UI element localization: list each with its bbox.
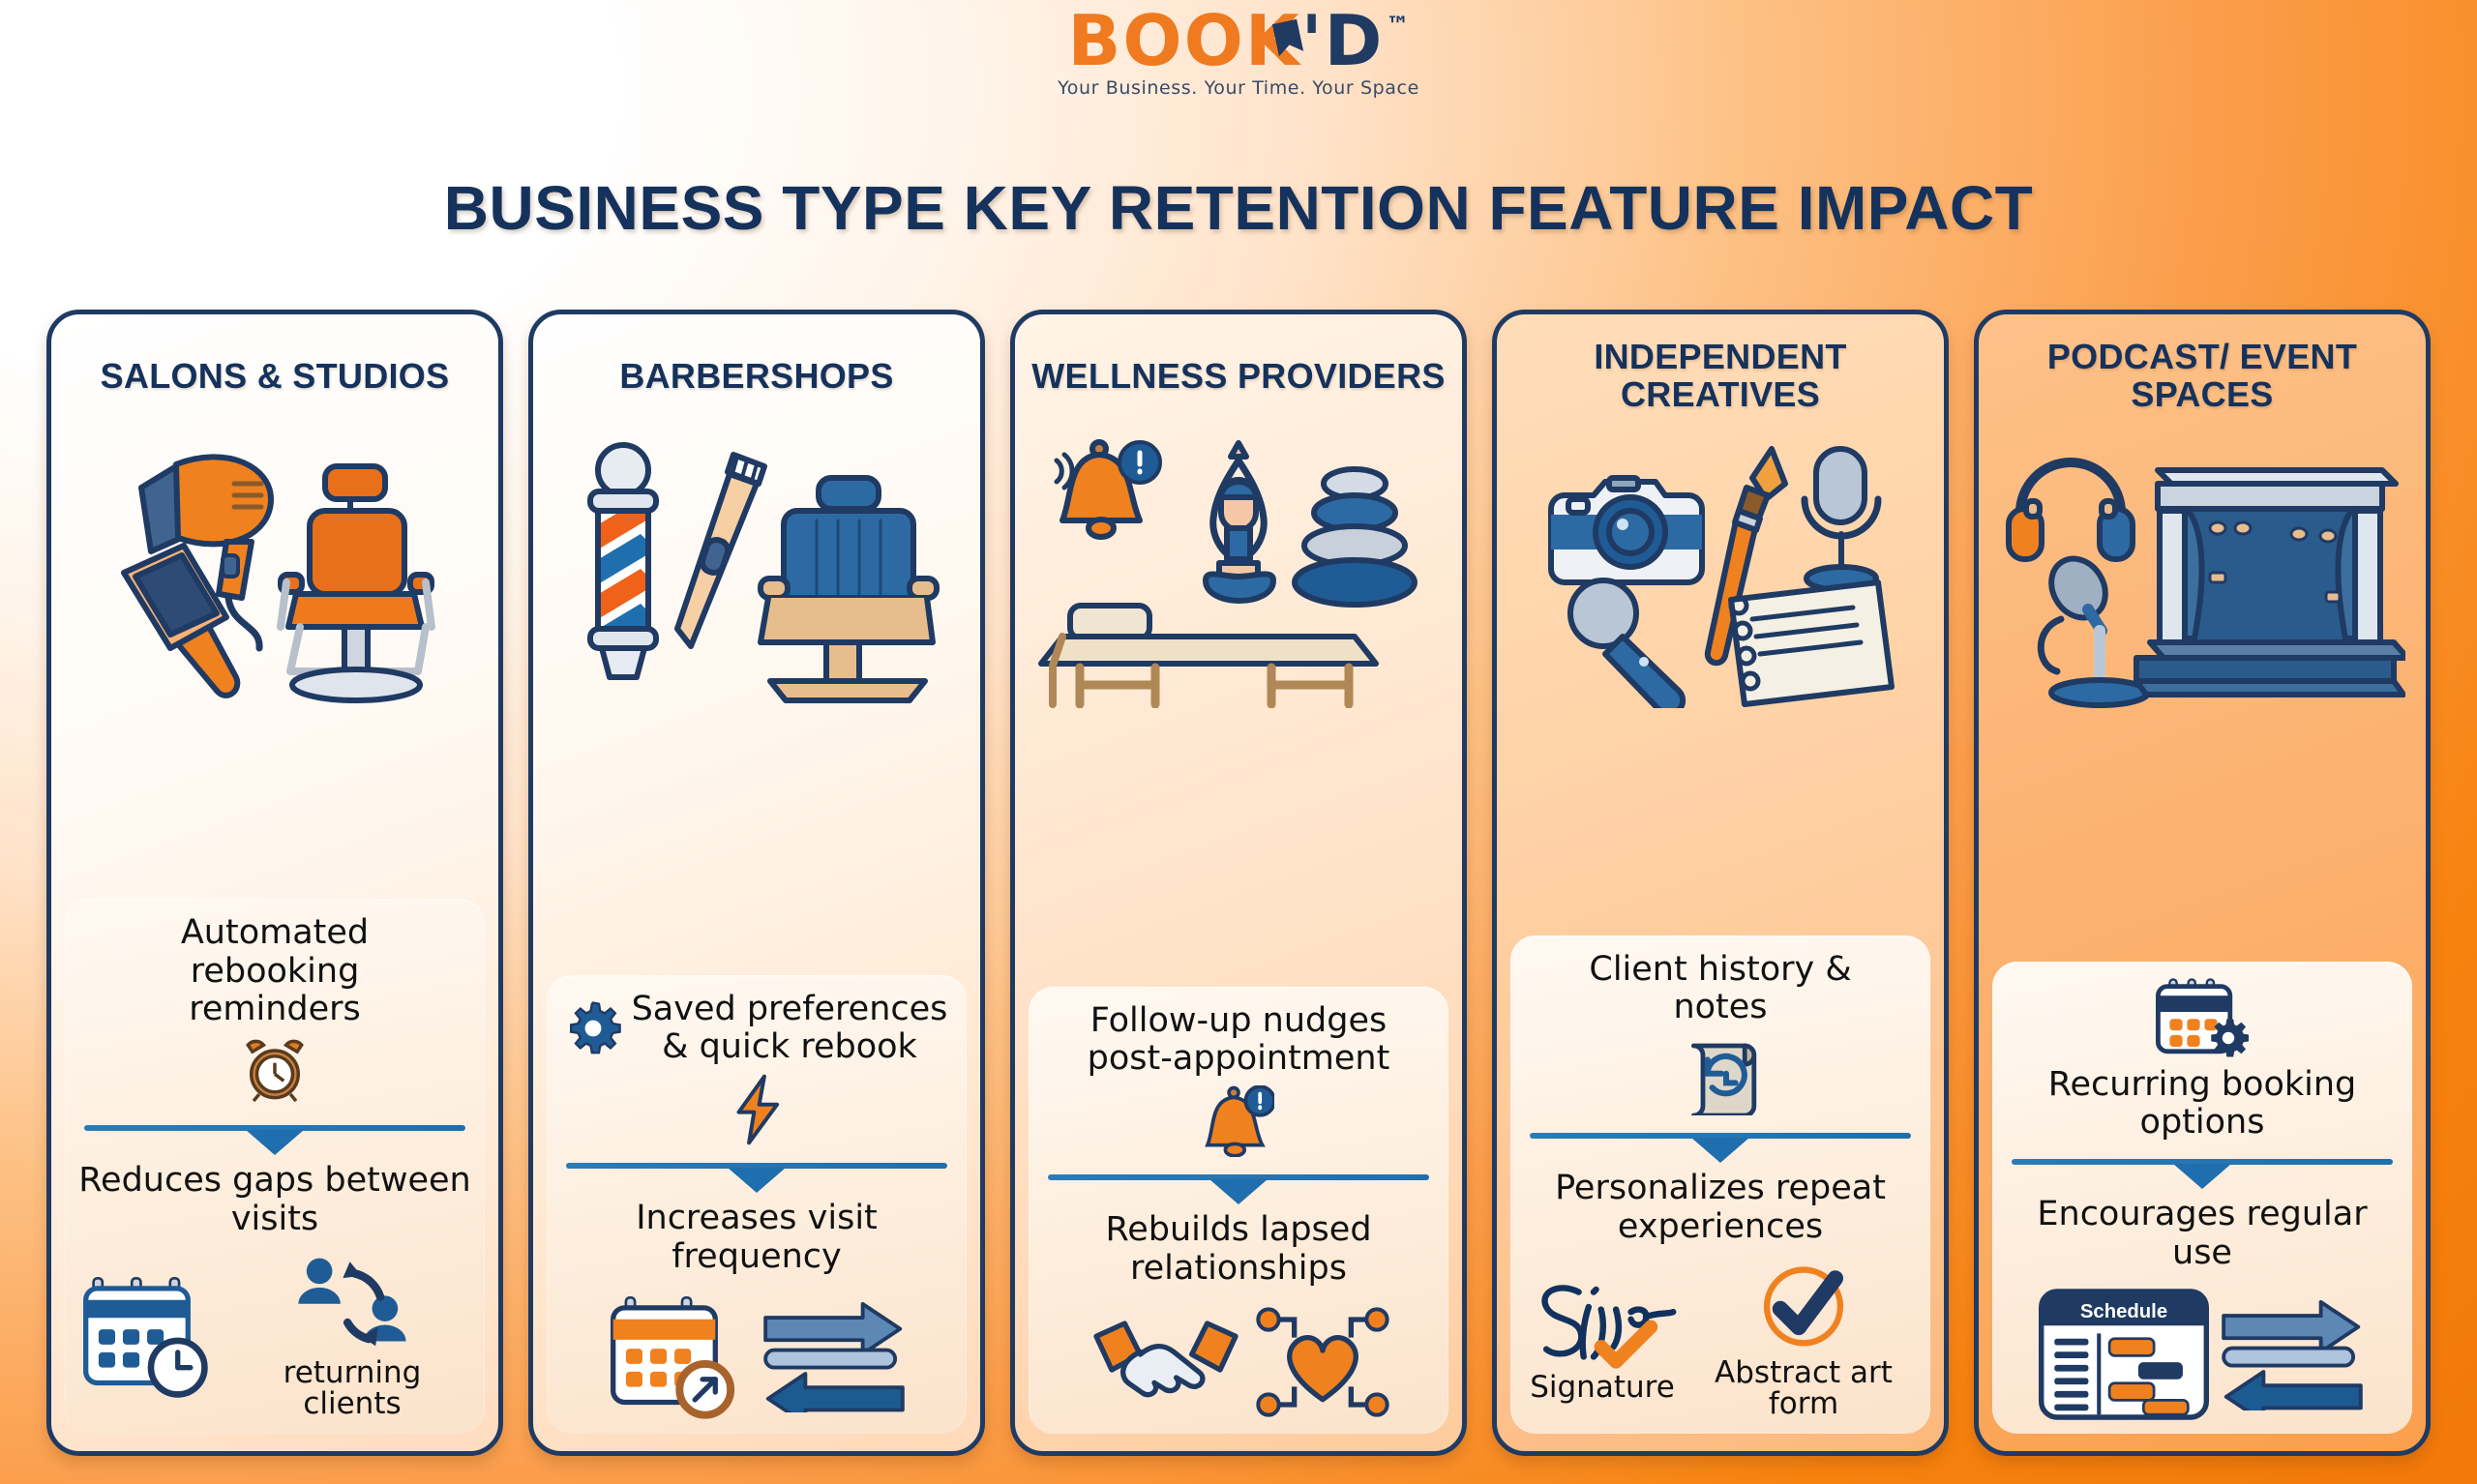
handheld-mic-icon bbox=[1570, 580, 1683, 708]
calendar-clock-icon bbox=[78, 1273, 224, 1401]
impact-podcast-event-spaces: Encourages regular use bbox=[2006, 1190, 2399, 1279]
panel-barbershops: Saved preferences & quick rebook Increas… bbox=[547, 975, 967, 1434]
card-header-salons-studios: SALONS & STUDIOS bbox=[65, 330, 485, 419]
feature-independent-creatives: Client history & notes bbox=[1524, 951, 1917, 1115]
divider-podcast-event-spaces bbox=[2012, 1151, 2393, 1184]
panel-podcast-event-spaces: Recurring booking options Encourages reg… bbox=[1992, 962, 2412, 1434]
ringing-bell-icon bbox=[1057, 442, 1160, 537]
notebook-icon bbox=[1731, 582, 1892, 704]
mic-stand-icon bbox=[2041, 549, 2148, 705]
headphones-icon bbox=[2009, 462, 2133, 559]
salon-chair-icon bbox=[281, 466, 432, 700]
card-independent-creatives[interactable]: INDEPENDENT CREATIVES bbox=[1492, 310, 1949, 1456]
footer-caption-returning-clients: returning clients bbox=[233, 1357, 471, 1420]
feature-text: Saved preferences & quick rebook bbox=[630, 991, 949, 1066]
two-way-arrows-icon bbox=[761, 1300, 908, 1412]
yoga-person-icon bbox=[1206, 443, 1273, 601]
feature-text: Follow-up nudges post-appointment bbox=[1079, 1002, 1398, 1078]
impact-barbershops: Increases visit frequency bbox=[560, 1194, 953, 1283]
logo-wordmark: BOOK'D bbox=[1068, 6, 1385, 75]
bell-alert-icon bbox=[1203, 1085, 1274, 1157]
alarm-clock-icon bbox=[239, 1036, 311, 1108]
impact-independent-creatives: Personalizes repeat experiences bbox=[1524, 1164, 1917, 1253]
impact-salons-studios: Reduces gaps between visits bbox=[78, 1156, 471, 1245]
footer-independent-creatives: Signature Abstract art form bbox=[1524, 1262, 1917, 1420]
feature-text: Automated rebooking reminders bbox=[115, 914, 434, 1028]
divider-wellness-providers bbox=[1048, 1167, 1429, 1200]
barber-chair-icon bbox=[761, 478, 937, 700]
impact-wellness-providers: Rebuilds lapsed relationships bbox=[1042, 1205, 1435, 1294]
logo-d-text: 'D bbox=[1301, 0, 1385, 81]
barber-pole-icon bbox=[582, 445, 656, 677]
divider-salons-studios bbox=[84, 1117, 465, 1150]
card-header-barbershops: BARBERSHOPS bbox=[547, 330, 967, 419]
zen-stones-icon bbox=[1295, 469, 1415, 605]
feature-text: Recurring booking options bbox=[2043, 1066, 2362, 1142]
returning-clients-icon bbox=[293, 1255, 411, 1355]
calendar-gear-icon bbox=[2156, 977, 2249, 1058]
checkmark-circle-icon bbox=[1748, 1262, 1859, 1355]
footer-barbershops bbox=[560, 1292, 953, 1420]
feature-podcast-event-spaces: Recurring booking options bbox=[2006, 977, 2399, 1142]
brand-logo: BOOK'D ™ Your Business. Your Time. Your … bbox=[0, 6, 2477, 99]
gear-icon bbox=[564, 999, 622, 1057]
feature-text: Client history & notes bbox=[1561, 951, 1880, 1026]
divider-independent-creatives bbox=[1530, 1125, 1911, 1158]
art-independent-creatives bbox=[1510, 423, 1930, 713]
lightning-bolt-icon bbox=[728, 1074, 786, 1145]
panel-salons-studios: Automated rebooking reminders bbox=[65, 899, 485, 1434]
feature-salons-studios: Automated rebooking reminders bbox=[78, 914, 471, 1108]
footer-caption-abstract-art-form: Abstract art form bbox=[1690, 1357, 1917, 1420]
card-podcast-event-spaces[interactable]: PODCAST/ EVENT SPACES bbox=[1974, 310, 2431, 1456]
footer-wellness-providers bbox=[1042, 1304, 1435, 1420]
stage-truss-icon bbox=[2136, 470, 2405, 695]
massage-table-icon bbox=[1041, 606, 1376, 704]
feature-barbershops: Saved preferences & quick rebook bbox=[560, 991, 953, 1145]
logo-book-text: BOOK bbox=[1068, 0, 1301, 81]
studio-mic-icon bbox=[1805, 449, 1878, 590]
two-way-arrows-icon bbox=[2219, 1298, 2366, 1410]
camera-icon bbox=[1551, 478, 1702, 582]
business-type-grid: SALONS & STUDIOS bbox=[46, 310, 2431, 1456]
calendar-trend-icon bbox=[606, 1292, 751, 1420]
card-header-independent-creatives: INDEPENDENT CREATIVES bbox=[1510, 330, 1930, 419]
schedule-board-icon: Schedule bbox=[2039, 1289, 2209, 1420]
art-salons-studios bbox=[65, 423, 485, 713]
card-header-podcast-event-spaces: PODCAST/ EVENT SPACES bbox=[1992, 330, 2412, 419]
footer-podcast-event-spaces: Schedule bbox=[2006, 1289, 2399, 1420]
panel-wellness-providers: Follow-up nudges post-appointment bbox=[1029, 987, 1448, 1434]
footer-caption-signature: Signature bbox=[1530, 1372, 1675, 1404]
feature-wellness-providers: Follow-up nudges post-appointment bbox=[1042, 1002, 1435, 1157]
card-header-wellness-providers: WELLNESS PROVIDERS bbox=[1029, 330, 1448, 419]
trademark-icon: ™ bbox=[1386, 12, 1409, 39]
handshake-icon bbox=[1087, 1308, 1245, 1416]
scroll-history-icon bbox=[1680, 1034, 1761, 1115]
heart-network-icon bbox=[1255, 1304, 1390, 1420]
card-wellness-providers[interactable]: WELLNESS PROVIDERS bbox=[1010, 310, 1467, 1456]
page-title: BUSINESS TYPE KEY RETENTION FEATURE IMPA… bbox=[0, 172, 2477, 244]
schedule-board-label: Schedule bbox=[2080, 1301, 2167, 1322]
art-barbershops bbox=[547, 423, 967, 713]
divider-barbershops bbox=[566, 1155, 947, 1188]
footer-salons-studios: returning clients bbox=[78, 1255, 471, 1420]
hair-clipper-icon bbox=[677, 455, 764, 646]
card-barbershops[interactable]: BARBERSHOPS bbox=[528, 310, 985, 1456]
art-podcast-event-spaces bbox=[1992, 423, 2412, 713]
art-wellness-providers bbox=[1029, 423, 1448, 713]
panel-independent-creatives: Client history & notes bbox=[1510, 935, 1930, 1434]
card-salons-studios[interactable]: SALONS & STUDIOS bbox=[46, 310, 503, 1456]
signature-icon bbox=[1524, 1279, 1681, 1370]
